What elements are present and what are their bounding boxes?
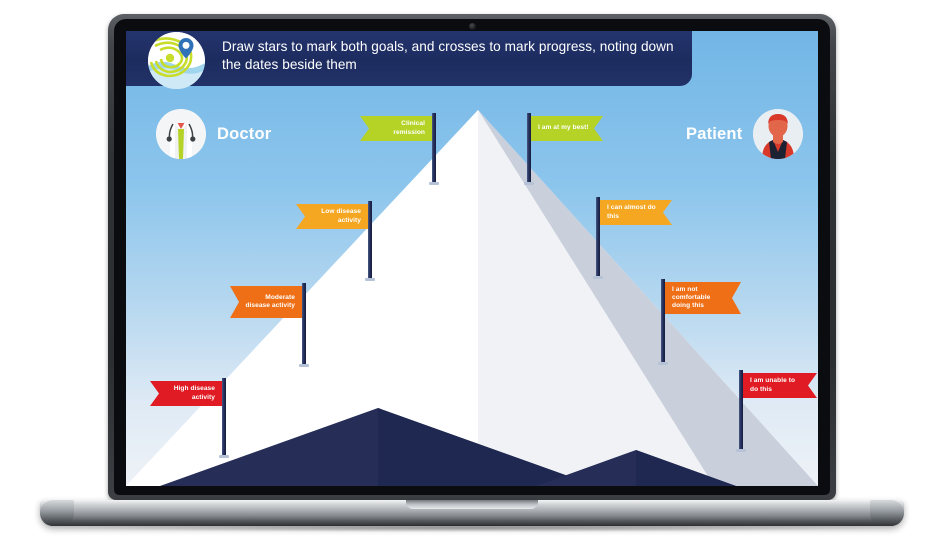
doctor-role: Doctor [156, 109, 271, 159]
camera-dot-icon [469, 23, 476, 30]
flag-label: Clinical remission [360, 116, 432, 141]
flag-label: I am unable to do this [743, 373, 817, 398]
flag-label: Moderate disease activity [230, 286, 302, 318]
patient-avatar-icon [753, 109, 803, 159]
flag-pole [596, 197, 600, 277]
instruction-banner-text: Draw stars to mark both goals, and cross… [222, 38, 682, 73]
flag-pole-foot [219, 455, 229, 458]
patient-label: Patient [686, 125, 742, 144]
laptop-base-left-cap [40, 500, 74, 526]
flag-pole [222, 378, 226, 456]
flag-pole [527, 113, 531, 183]
patient-role: Patient [686, 109, 803, 159]
flag-label: I am not comfortable doing this [665, 282, 741, 314]
map-topography-pin-icon [148, 32, 205, 89]
instruction-banner: Draw stars to mark both goals, and cross… [126, 31, 692, 86]
flag-pole-foot [736, 449, 746, 452]
flag-pole [739, 370, 743, 450]
flag-pole [432, 113, 436, 183]
flag-label: Low disease activity [296, 204, 368, 229]
laptop-screen: Draw stars to mark both goals, and cross… [126, 31, 818, 486]
flag-label: High disease activity [150, 381, 222, 406]
laptop-base-notch [406, 500, 538, 509]
flag-label: I can almost do this [600, 200, 672, 225]
flag-pole-foot [299, 364, 309, 367]
flag-pole-foot [658, 362, 668, 365]
flag-label: I am at my best! [531, 116, 603, 141]
flag-pole [368, 201, 372, 279]
laptop-base-right-cap [870, 500, 904, 526]
flag-pole [661, 279, 665, 363]
flag-pole-foot [524, 182, 534, 185]
mountain-illustration [126, 31, 818, 486]
laptop-drop-shadow [60, 524, 884, 532]
doctor-label: Doctor [217, 125, 271, 144]
doctor-avatar-icon [156, 109, 206, 159]
screenshot-stage: Draw stars to mark both goals, and cross… [0, 0, 944, 544]
flag-pole-foot [593, 276, 603, 279]
flag-pole [302, 283, 306, 365]
flag-pole-foot [429, 182, 439, 185]
flag-pole-foot [365, 278, 375, 281]
